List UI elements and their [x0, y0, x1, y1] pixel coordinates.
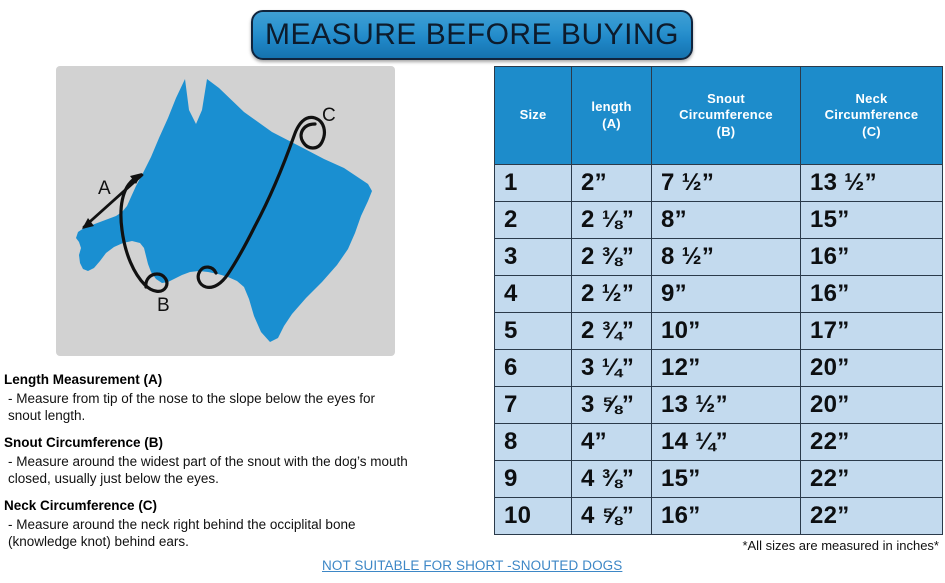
cell-size: 3 — [495, 239, 572, 276]
cell-length: 2” — [572, 165, 652, 202]
cell-size: 5 — [495, 313, 572, 350]
dog-head-silhouette-svg: A B C — [56, 66, 395, 356]
table-row: 84”14 ¼”22” — [495, 424, 943, 461]
table-row: 52 ¾”10”17” — [495, 313, 943, 350]
table-row: 12”7 ½”13 ½” — [495, 165, 943, 202]
note-neck-title: Neck Circumference (C) — [4, 498, 484, 515]
cell-snout: 14 ¼” — [652, 424, 801, 461]
cell-neck: 17” — [801, 313, 943, 350]
table-row: 73 ⅝”13 ½”20” — [495, 387, 943, 424]
cell-snout: 8 ½” — [652, 239, 801, 276]
note-neck-body: - Measure around the neck right behind t… — [4, 516, 484, 551]
table-row: 42 ½”9”16” — [495, 276, 943, 313]
table-row: 63 ¼”12”20” — [495, 350, 943, 387]
note-length-title: Length Measurement (A) — [4, 372, 484, 389]
cell-snout: 12” — [652, 350, 801, 387]
note-snout: Snout Circumference (B) - Measure around… — [4, 435, 484, 488]
cell-snout: 13 ½” — [652, 387, 801, 424]
note-length-body: - Measure from tip of the nose to the sl… — [4, 390, 484, 425]
cell-snout: 7 ½” — [652, 165, 801, 202]
page-title: MEASURE BEFORE BUYING — [265, 18, 679, 52]
column-header-size: Size — [495, 67, 572, 165]
units-footnote: *All sizes are measured in inches* — [742, 538, 939, 553]
cell-length: 4 ⅜” — [572, 461, 652, 498]
table-row: 104 ⅝”16”22” — [495, 498, 943, 535]
column-header-neck: Neck Circumference (C) — [801, 67, 943, 165]
measurement-instructions: Length Measurement (A) - Measure from ti… — [4, 372, 484, 561]
page-title-banner: MEASURE BEFORE BUYING — [251, 10, 693, 60]
column-header-snout: Snout Circumference (B) — [652, 67, 801, 165]
not-suitable-warning: NOT SUITABLE FOR SHORT -SNOUTED DOGS — [322, 558, 622, 573]
cell-snout: 10” — [652, 313, 801, 350]
table-row: 22 ⅛”8”15” — [495, 202, 943, 239]
cell-size: 1 — [495, 165, 572, 202]
cell-size: 6 — [495, 350, 572, 387]
table-row: 32 ⅜”8 ½”16” — [495, 239, 943, 276]
size-chart-table-container: Size length (A) Snout Circumference (B) … — [494, 66, 942, 534]
dog-measurement-illustration: A B C — [56, 66, 395, 356]
cell-neck: 13 ½” — [801, 165, 943, 202]
cell-snout: 15” — [652, 461, 801, 498]
table-header-row: Size length (A) Snout Circumference (B) … — [495, 67, 943, 165]
cell-size: 10 — [495, 498, 572, 535]
cell-size: 8 — [495, 424, 572, 461]
cell-neck: 15” — [801, 202, 943, 239]
cell-neck: 22” — [801, 461, 943, 498]
note-neck: Neck Circumference (C) - Measure around … — [4, 498, 484, 551]
cell-length: 4 ⅝” — [572, 498, 652, 535]
cell-neck: 22” — [801, 424, 943, 461]
cell-size: 2 — [495, 202, 572, 239]
note-snout-body: - Measure around the widest part of the … — [4, 453, 484, 488]
cell-neck: 20” — [801, 387, 943, 424]
cell-size: 4 — [495, 276, 572, 313]
size-chart-table-body: 12”7 ½”13 ½”22 ⅛”8”15”32 ⅜”8 ½”16”42 ½”9… — [495, 165, 943, 535]
cell-length: 3 ¼” — [572, 350, 652, 387]
cell-length: 2 ⅛” — [572, 202, 652, 239]
label-a: A — [98, 178, 111, 199]
cell-neck: 16” — [801, 276, 943, 313]
cell-size: 7 — [495, 387, 572, 424]
cell-neck: 16” — [801, 239, 943, 276]
cell-neck: 22” — [801, 498, 943, 535]
cell-length: 4” — [572, 424, 652, 461]
table-row: 94 ⅜”15”22” — [495, 461, 943, 498]
label-c: C — [322, 105, 336, 126]
label-b: B — [157, 295, 170, 316]
column-header-length: length (A) — [572, 67, 652, 165]
cell-snout: 8” — [652, 202, 801, 239]
cell-length: 2 ½” — [572, 276, 652, 313]
cell-snout: 9” — [652, 276, 801, 313]
note-snout-title: Snout Circumference (B) — [4, 435, 484, 452]
note-length: Length Measurement (A) - Measure from ti… — [4, 372, 484, 425]
cell-snout: 16” — [652, 498, 801, 535]
cell-length: 3 ⅝” — [572, 387, 652, 424]
cell-length: 2 ⅜” — [572, 239, 652, 276]
size-chart-table: Size length (A) Snout Circumference (B) … — [494, 66, 943, 535]
cell-length: 2 ¾” — [572, 313, 652, 350]
cell-size: 9 — [495, 461, 572, 498]
cell-neck: 20” — [801, 350, 943, 387]
